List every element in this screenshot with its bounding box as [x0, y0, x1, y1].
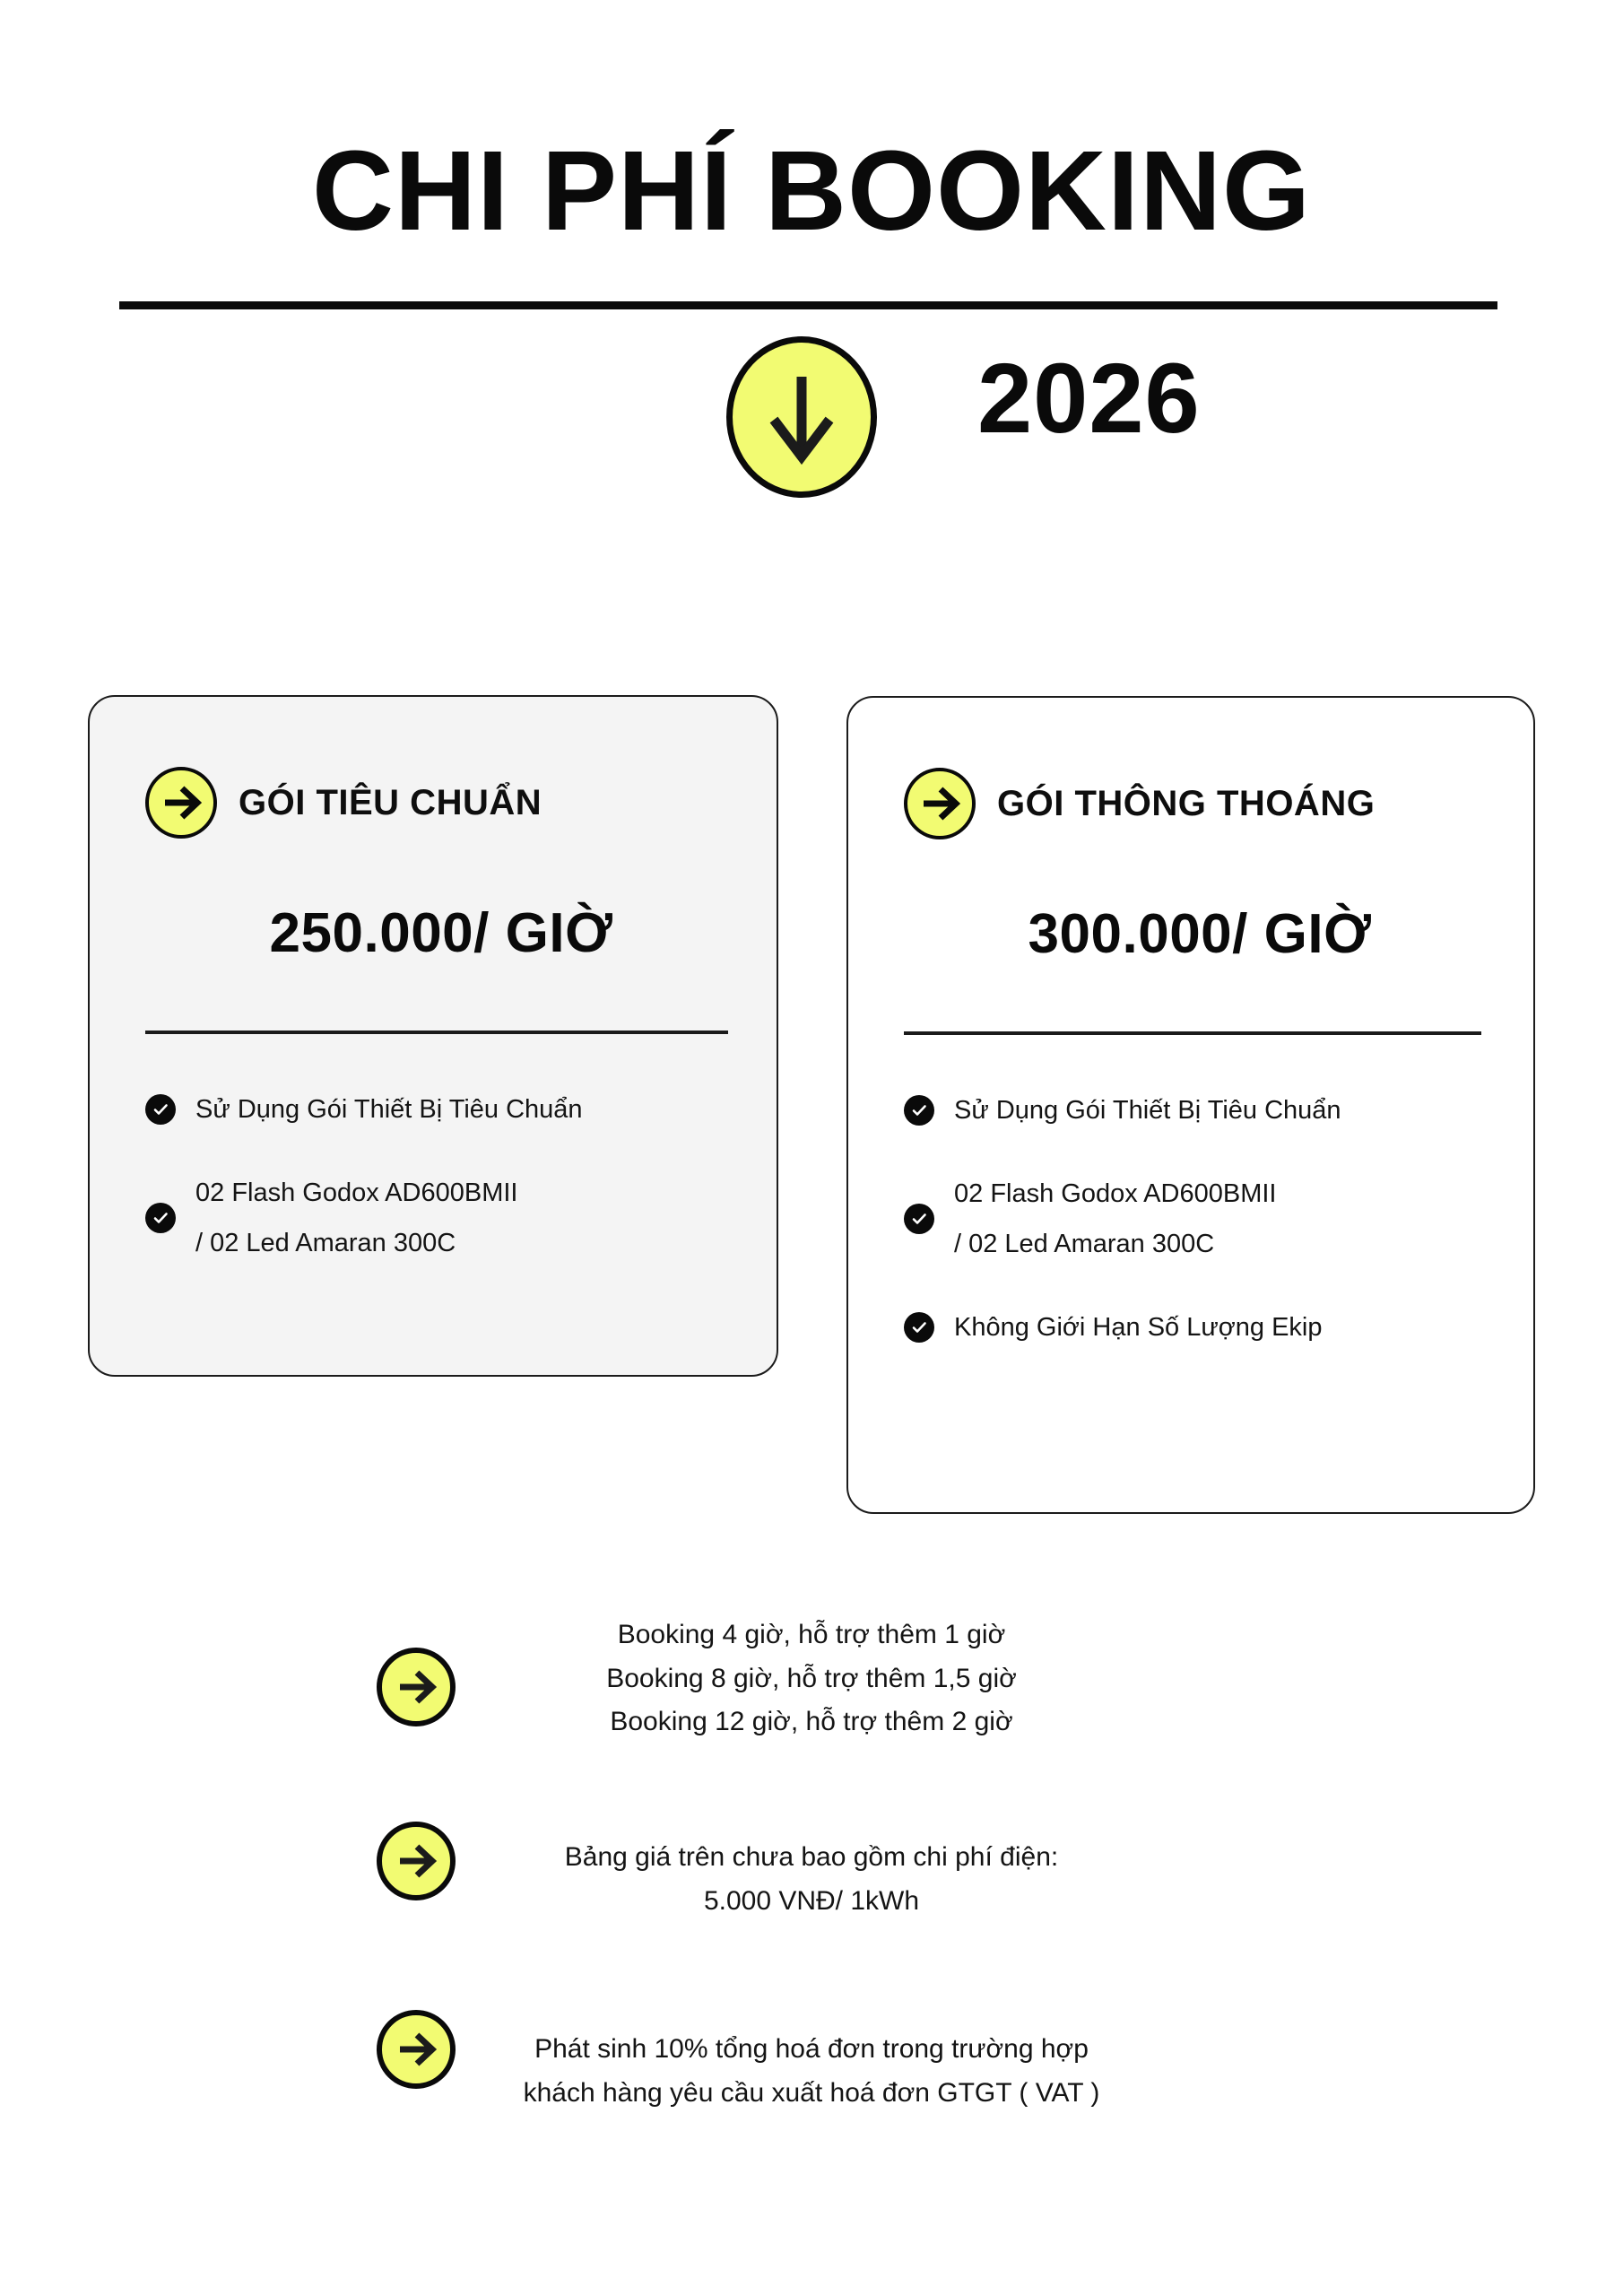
feature-line: / 02 Led Amaran 300C: [195, 1218, 517, 1269]
feature-text: 02 Flash Godox AD600BMII / 02 Led Amaran…: [195, 1168, 517, 1269]
arrow-right-icon: [904, 768, 976, 839]
note-line: Booking 4 giờ, hỗ trợ thêm 1 giờ: [0, 1613, 1623, 1657]
note-line: Booking 12 giờ, hỗ trợ thêm 2 giờ: [0, 1700, 1623, 1744]
check-circle-icon: [904, 1204, 934, 1234]
note-electricity-fee-text: Bảng giá trên chưa bao gồm chi phí điện:…: [0, 1813, 1623, 1923]
list-item: Sử Dụng Gói Thiết Bị Tiêu Chuẩn: [145, 1084, 737, 1135]
feature-line: 02 Flash Godox AD600BMII: [195, 1168, 517, 1219]
card-open-title: GÓI THÔNG THOÁNG: [997, 784, 1375, 824]
feature-text: Sử Dụng Gói Thiết Bị Tiêu Chuẩn: [954, 1085, 1341, 1136]
feature-text: 02 Flash Godox AD600BMII / 02 Led Amaran…: [954, 1169, 1276, 1270]
poster-header: CHI PHÍ BOOKING 2026: [0, 0, 1623, 538]
arrow-right-icon: [145, 767, 217, 839]
note-electricity-fee: Bảng giá trên chưa bao gồm chi phí điện:…: [0, 1787, 1623, 1949]
feature-line: Sử Dụng Gói Thiết Bị Tiêu Chuẩn: [195, 1084, 583, 1135]
note-line: Bảng giá trên chưa bao gồm chi phí điện:: [0, 1836, 1623, 1880]
feature-text: Không Giới Hạn Số Lượng Ekip: [954, 1302, 1323, 1353]
card-standard-title: GÓI TIÊU CHUẨN: [239, 783, 542, 823]
check-circle-icon: [904, 1095, 934, 1126]
note-booking-hours-text: Booking 4 giờ, hỗ trợ thêm 1 giờ Booking…: [0, 1601, 1623, 1744]
page-title: CHI PHÍ BOOKING: [0, 135, 1623, 248]
feature-line: Sử Dụng Gói Thiết Bị Tiêu Chuẩn: [954, 1085, 1341, 1136]
note-booking-hours: Booking 4 giờ, hỗ trợ thêm 1 giờ Booking…: [0, 1592, 1623, 1753]
card-standard-price: 250.000/ GIỜ: [145, 901, 737, 965]
card-open-header: GÓI THÔNG THOÁNG: [904, 768, 1375, 839]
header-divider: [119, 301, 1497, 309]
feature-line: 02 Flash Godox AD600BMII: [954, 1169, 1276, 1220]
card-standard-divider: [145, 1031, 728, 1034]
card-standard-header: GÓI TIÊU CHUẨN: [145, 767, 542, 839]
card-open-feature-list: Sử Dụng Gói Thiết Bị Tiêu Chuẩn 02 Flash…: [904, 1085, 1496, 1385]
list-item: Sử Dụng Gói Thiết Bị Tiêu Chuẩn: [904, 1085, 1496, 1136]
feature-text: Sử Dụng Gói Thiết Bị Tiêu Chuẩn: [195, 1084, 583, 1135]
arrow-down-icon: [726, 336, 877, 498]
arrow-right-icon: [377, 2010, 456, 2089]
arrow-right-icon: [377, 1648, 456, 1726]
note-line: Phát sinh 10% tổng hoá đơn trong trường …: [0, 2028, 1623, 2072]
check-circle-icon: [145, 1094, 176, 1125]
feature-line: / 02 Led Amaran 300C: [954, 1219, 1276, 1270]
card-open-price: 300.000/ GIỜ: [904, 902, 1496, 966]
note-vat-surcharge-text: Phát sinh 10% tổng hoá đơn trong trường …: [0, 2008, 1623, 2115]
pricing-card-standard[interactable]: GÓI TIÊU CHUẨN 250.000/ GIỜ Sử Dụng Gói …: [88, 695, 778, 1377]
check-circle-icon: [904, 1312, 934, 1343]
pricing-card-open[interactable]: GÓI THÔNG THOÁNG 300.000/ GIỜ Sử Dụng Gó…: [846, 696, 1535, 1514]
feature-line: Không Giới Hạn Số Lượng Ekip: [954, 1302, 1323, 1353]
notes-section: Booking 4 giờ, hỗ trợ thêm 1 giờ Booking…: [0, 1592, 1623, 2143]
year-label: 2026: [977, 350, 1426, 448]
note-vat-surcharge: Phát sinh 10% tổng hoá đơn trong trường …: [0, 1981, 1623, 2143]
card-standard-feature-list: Sử Dụng Gói Thiết Bị Tiêu Chuẩn 02 Flash…: [145, 1084, 737, 1301]
list-item: 02 Flash Godox AD600BMII / 02 Led Amaran…: [904, 1169, 1496, 1270]
note-line: 5.000 VNĐ/ 1kWh: [0, 1880, 1623, 1924]
list-item: Không Giới Hạn Số Lượng Ekip: [904, 1302, 1496, 1353]
list-item: 02 Flash Godox AD600BMII / 02 Led Amaran…: [145, 1168, 737, 1269]
note-line: khách hàng yêu cầu xuất hoá đơn GTGT ( V…: [0, 2072, 1623, 2116]
card-open-divider: [904, 1031, 1481, 1035]
note-line: Booking 8 giờ, hỗ trợ thêm 1,5 giờ: [0, 1657, 1623, 1701]
check-circle-icon: [145, 1203, 176, 1233]
arrow-right-icon: [377, 1822, 456, 1900]
